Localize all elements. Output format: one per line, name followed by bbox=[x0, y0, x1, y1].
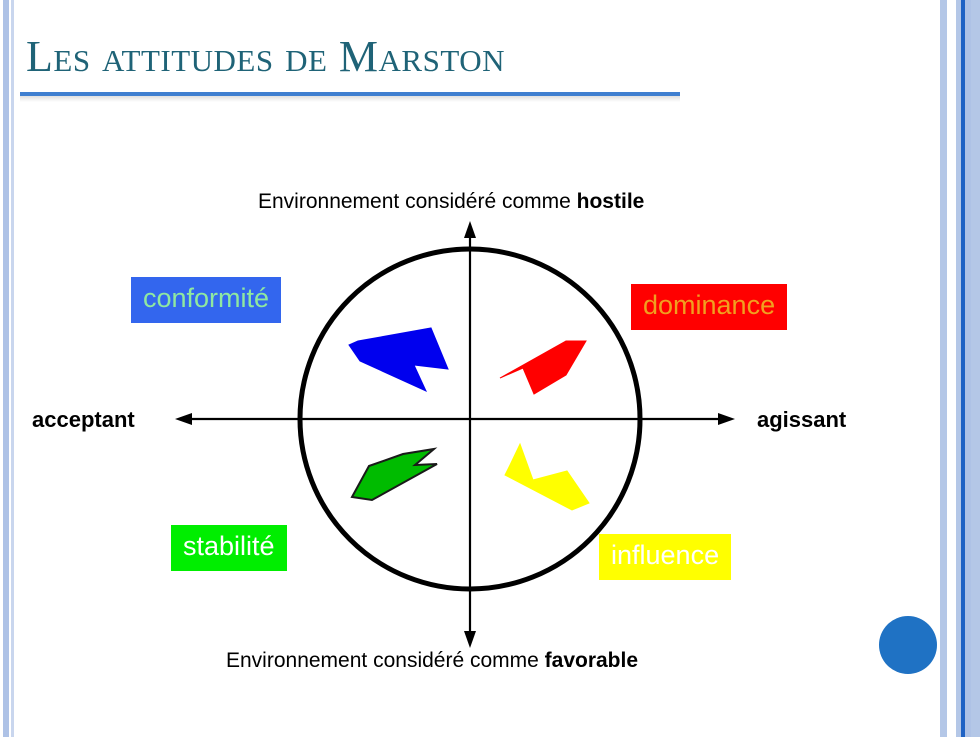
axis-caption-top: Environnement considéré comme hostile bbox=[258, 190, 644, 214]
arrow-dominance bbox=[500, 341, 586, 394]
quadrant-label-dominance: dominance bbox=[631, 284, 787, 330]
marston-quadrant-diagram bbox=[0, 0, 980, 737]
axis-caption-bottom-prefix: Environnement considéré comme bbox=[226, 649, 545, 672]
accent-dot bbox=[879, 616, 937, 674]
slide: Les attitudes de Marston bbox=[0, 0, 980, 737]
quadrant-label-conformite: conformité bbox=[131, 277, 281, 323]
axis-caption-bottom: Environnement considéré comme favorable bbox=[226, 649, 638, 673]
arrow-conformite bbox=[349, 328, 448, 391]
axis-caption-top-prefix: Environnement considéré comme bbox=[258, 190, 577, 213]
axis-arrowhead-up bbox=[464, 221, 476, 238]
arrow-stabilite bbox=[352, 449, 437, 500]
axis-arrowhead-down bbox=[464, 631, 476, 648]
axis-arrowhead-left bbox=[175, 413, 192, 425]
axis-arrowhead-right bbox=[718, 413, 735, 425]
axis-caption-top-emphasis: hostile bbox=[577, 190, 645, 213]
axis-label-acceptant: acceptant bbox=[32, 407, 135, 433]
quadrant-label-stabilite: stabilité bbox=[171, 525, 287, 571]
axis-label-agissant: agissant bbox=[757, 407, 846, 433]
quadrant-label-influence: influence bbox=[599, 534, 731, 580]
axis-caption-bottom-emphasis: favorable bbox=[545, 649, 638, 672]
arrow-influence bbox=[505, 444, 589, 510]
